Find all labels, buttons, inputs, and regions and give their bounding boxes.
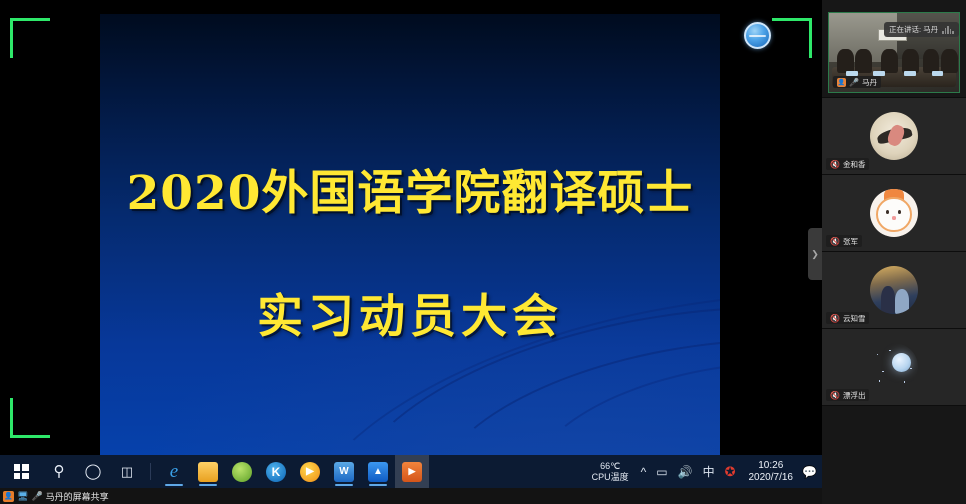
shared-screen-region: 2020外国语学院翻译硕士 实习动员大会 ⚲ ◯ ◫ e K (0, 0, 822, 504)
participant-name-tag: 🔇 云知雪 (826, 312, 869, 324)
taskbar-app-peak[interactable]: ▲ (361, 455, 395, 488)
participant-name-tag: 👤 🎤 马丹 (833, 76, 881, 88)
presentation-slide: 2020外国语学院翻译硕士 实习动员大会 (100, 14, 720, 455)
slide-subtitle: 实习动员大会 (100, 280, 720, 346)
avatar (870, 112, 918, 160)
participant-name: 漂浮出 (843, 390, 866, 401)
microphone-muted-icon: 🔇 (830, 160, 840, 169)
chevron-up-icon[interactable]: ^ (636, 465, 652, 479)
audio-wave-icon (942, 26, 954, 34)
share-border-corner-top-right (772, 18, 812, 58)
mountain-icon: ▲ (368, 462, 388, 482)
system-tray: 66℃ CPU温度 ^ ▭ 🔊 中 ✪ 10:26 2020/7/16 💬 (585, 455, 822, 488)
cpu-temperature-indicator[interactable]: 66℃ CPU温度 (585, 461, 636, 483)
participant-name: 张军 (843, 236, 858, 247)
windows-taskbar: ⚲ ◯ ◫ e K ▶ W ▲ ▶ (0, 455, 822, 488)
monitor-icon: 🖥 (17, 491, 28, 502)
play-icon: ▶ (300, 462, 320, 482)
participant-name-tag: 🔇 张军 (826, 235, 862, 247)
cortana-button[interactable]: ◯ (76, 455, 110, 488)
microphone-muted-icon: 🔇 (830, 237, 840, 246)
search-icon: ⚲ (54, 464, 65, 479)
taskbar-app-wps-office[interactable]: W (327, 455, 361, 488)
start-button[interactable] (0, 455, 42, 488)
taskbar-app-file-explorer[interactable] (191, 455, 225, 488)
panel-collapse-button[interactable]: ❯ (808, 228, 822, 280)
corner-line-horizontal (10, 435, 50, 438)
windows-logo-icon (14, 464, 29, 479)
active-speaker-chip: 正在讲话: 马丹 (884, 22, 959, 37)
edge-icon: e (170, 461, 178, 483)
microphone-muted-icon: 🔇 (830, 391, 840, 400)
participant-name: 金和香 (843, 159, 866, 170)
clock-time: 10:26 (749, 460, 794, 472)
corner-line-vertical (10, 398, 13, 438)
corner-line-vertical (10, 18, 13, 58)
notification-center-button[interactable]: 💬 (801, 455, 818, 488)
taskbar-app-360-browser[interactable] (225, 455, 259, 488)
microphone-icon: 🎤 (31, 491, 42, 502)
circle-icon: ◯ (85, 464, 102, 479)
network-icon[interactable]: ▭ (651, 465, 672, 479)
participant-tile-avatar[interactable]: 🔇 漂浮出 (822, 329, 966, 406)
taskbar-app-kingsoft[interactable]: K (259, 455, 293, 488)
host-badge-icon: 👤 (837, 78, 846, 87)
avatar (870, 189, 918, 237)
corner-line-horizontal (772, 18, 812, 21)
microphone-muted-icon: 🔇 (830, 314, 840, 323)
participant-tile-avatar[interactable]: 🔇 张军 (822, 175, 966, 252)
share-border-corner-top-left (10, 18, 50, 58)
notification-icon: 💬 (797, 465, 822, 479)
participant-tile-avatar[interactable]: 🔇 金和香 (822, 98, 966, 175)
chevron-right-icon: ❯ (811, 249, 819, 260)
status-text: 马丹的屏幕共享 (46, 490, 109, 503)
floating-toolbar-button[interactable] (744, 22, 771, 49)
participant-tile-video[interactable]: 👤 🎤 马丹 (822, 0, 966, 98)
volume-icon[interactable]: 🔊 (673, 465, 698, 479)
participant-name-tag: 🔇 漂浮出 (826, 389, 869, 401)
antivirus-icon[interactable]: ✪ (720, 464, 741, 480)
search-button[interactable]: ⚲ (42, 455, 76, 488)
avatar (870, 266, 918, 314)
powerpoint-icon: ▶ (402, 462, 422, 482)
ime-indicator[interactable]: 中 (698, 463, 720, 480)
participant-name: 马丹 (862, 77, 877, 88)
participant-panel: ❯ 正在讲话: 马丹 (822, 0, 966, 504)
microphone-on-icon: 🎤 (849, 78, 859, 87)
wps-icon: W (334, 462, 354, 482)
corner-line-horizontal (10, 18, 50, 21)
task-view-button[interactable]: ◫ (110, 455, 144, 488)
taskbar-divider (150, 463, 151, 480)
clock[interactable]: 10:26 2020/7/16 (741, 460, 802, 484)
taskbar-app-media-player[interactable]: ▶ (293, 455, 327, 488)
screen-share-status-bar: 👤 🖥 🎤 马丹的屏幕共享 (0, 488, 822, 504)
user-avatar-badge: 👤 (3, 491, 14, 502)
participant-name-tag: 🔇 金和香 (826, 158, 869, 170)
kingsoft-icon: K (266, 462, 286, 482)
clock-date: 2020/7/16 (749, 472, 794, 484)
folder-icon (198, 462, 218, 482)
avatar (870, 343, 918, 391)
taskbar-app-powerpoint[interactable]: ▶ (395, 455, 429, 488)
share-border-corner-bottom-left (10, 398, 50, 438)
cpu-temp-label: CPU温度 (592, 472, 629, 483)
corner-line-vertical (809, 18, 812, 58)
active-speaker-label: 正在讲话: 马丹 (889, 24, 938, 35)
taskbar-app-microsoft-edge[interactable]: e (157, 455, 191, 488)
participant-tile-avatar[interactable]: 🔇 云知雪 (822, 252, 966, 329)
task-view-icon: ◫ (121, 465, 133, 478)
browser-icon (232, 462, 252, 482)
slide-title: 2020外国语学院翻译硕士 (100, 154, 720, 223)
participant-name: 云知雪 (843, 313, 866, 324)
cpu-temp-value: 66℃ (592, 461, 629, 472)
